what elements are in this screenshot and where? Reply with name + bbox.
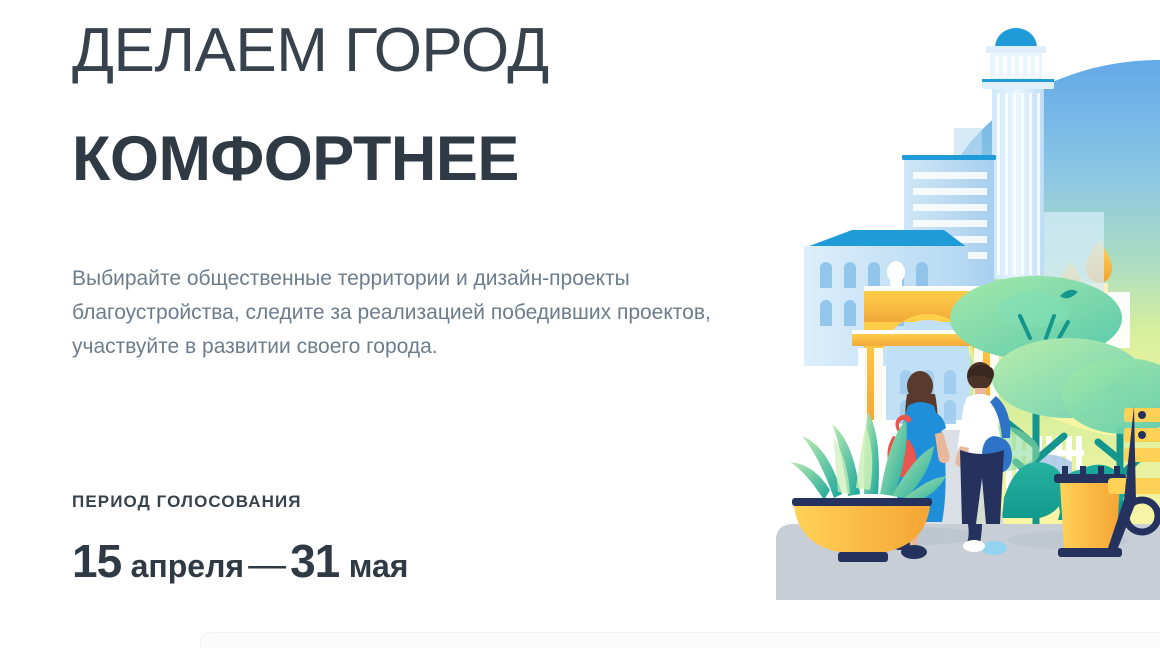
voting-start-day: 15 [72, 535, 121, 587]
voting-period-dates: 15 апреля—31 мая [72, 534, 408, 588]
page-title-line1: ДЕЛАЕМ ГОРОД [72, 18, 549, 85]
voting-end-month: мая [349, 548, 409, 584]
page-title-line2: КОМФОРТНЕЕ [72, 125, 519, 193]
hero-description: Выбирайте общественные территории и диза… [72, 262, 712, 364]
voting-end-day: 31 [290, 535, 339, 587]
voting-period-label: ПЕРИОД ГОЛОСОВАНИЯ [72, 492, 302, 512]
voting-start-month: апреля [131, 548, 244, 584]
city-illustration [768, 0, 1160, 600]
hero-text-column: ДЕЛАЕМ ГОРОД КОМФОРТНЕЕ Выбирайте общест… [72, 0, 772, 648]
voting-period-dash: — [244, 544, 290, 586]
hero-page: ДЕЛАЕМ ГОРОД КОМФОРТНЕЕ Выбирайте общест… [0, 0, 1160, 648]
